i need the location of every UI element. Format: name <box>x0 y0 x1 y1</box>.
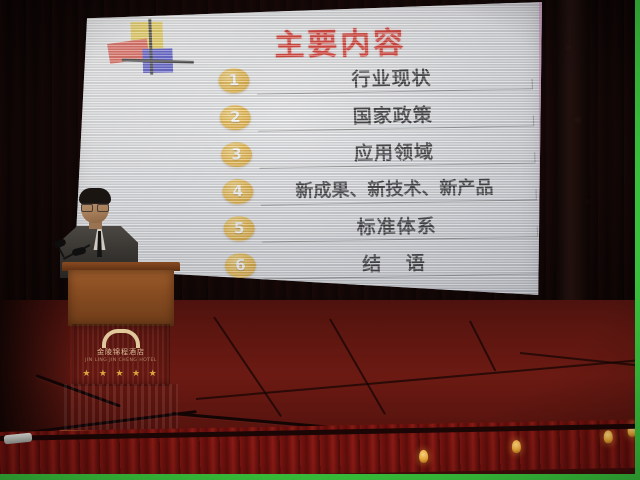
bottom-accent-border <box>0 474 640 480</box>
agenda-number-badge: 3 <box>221 142 253 168</box>
screen-chroma-fringe <box>539 2 542 298</box>
wall-glint <box>566 46 571 49</box>
agenda-number-badge: 5 <box>224 216 256 242</box>
hotel-arch-icon <box>102 329 140 348</box>
projection-screen: 主要内容 1 行业现状 2 国家政策 3 应用领域 <box>72 2 542 298</box>
wall-glint <box>575 118 581 122</box>
hotel-name: 金陵锦程酒店 <box>72 347 170 357</box>
podium-front-panel <box>68 270 174 326</box>
agenda-number-badge: 6 <box>225 253 257 279</box>
speaker-hair <box>79 188 111 204</box>
stage-lamp <box>419 450 428 463</box>
microphone-arm <box>58 249 64 258</box>
hotel-name-romanized: JIN LING JIN CHENG HOTEL <box>72 358 170 363</box>
glasses-icon <box>81 203 109 211</box>
podium: 金陵锦程酒店 JIN LING JIN CHENG HOTEL ★ ★ ★ ★ … <box>62 262 180 452</box>
screen-surface: 主要内容 1 行业现状 2 国家政策 3 应用领域 <box>72 2 542 298</box>
agenda-number-badge: 1 <box>218 68 250 94</box>
stage-lamp <box>512 440 521 453</box>
slide-title: 主要内容 <box>274 18 408 65</box>
right-accent-border <box>635 0 640 480</box>
slide-content: 主要内容 1 行业现状 2 国家政策 3 应用领域 <box>88 4 539 285</box>
podium-base <box>64 384 178 432</box>
slide-agenda-list: 1 行业现状 2 国家政策 3 应用领域 <box>90 60 540 290</box>
wall-glint <box>586 200 590 203</box>
hotel-star-rating: ★ ★ ★ ★ ★ <box>72 368 170 379</box>
microphone-head <box>71 246 86 256</box>
conference-photo: 主要内容 1 行业现状 2 国家政策 3 应用领域 <box>0 0 640 480</box>
agenda-number-badge: 2 <box>220 105 252 131</box>
stage-lamp <box>604 430 613 443</box>
podium-hotel-plaque: 金陵锦程酒店 JIN LING JIN CHENG HOTEL ★ ★ ★ ★ … <box>72 324 170 386</box>
backdrop-pillar <box>556 0 590 300</box>
